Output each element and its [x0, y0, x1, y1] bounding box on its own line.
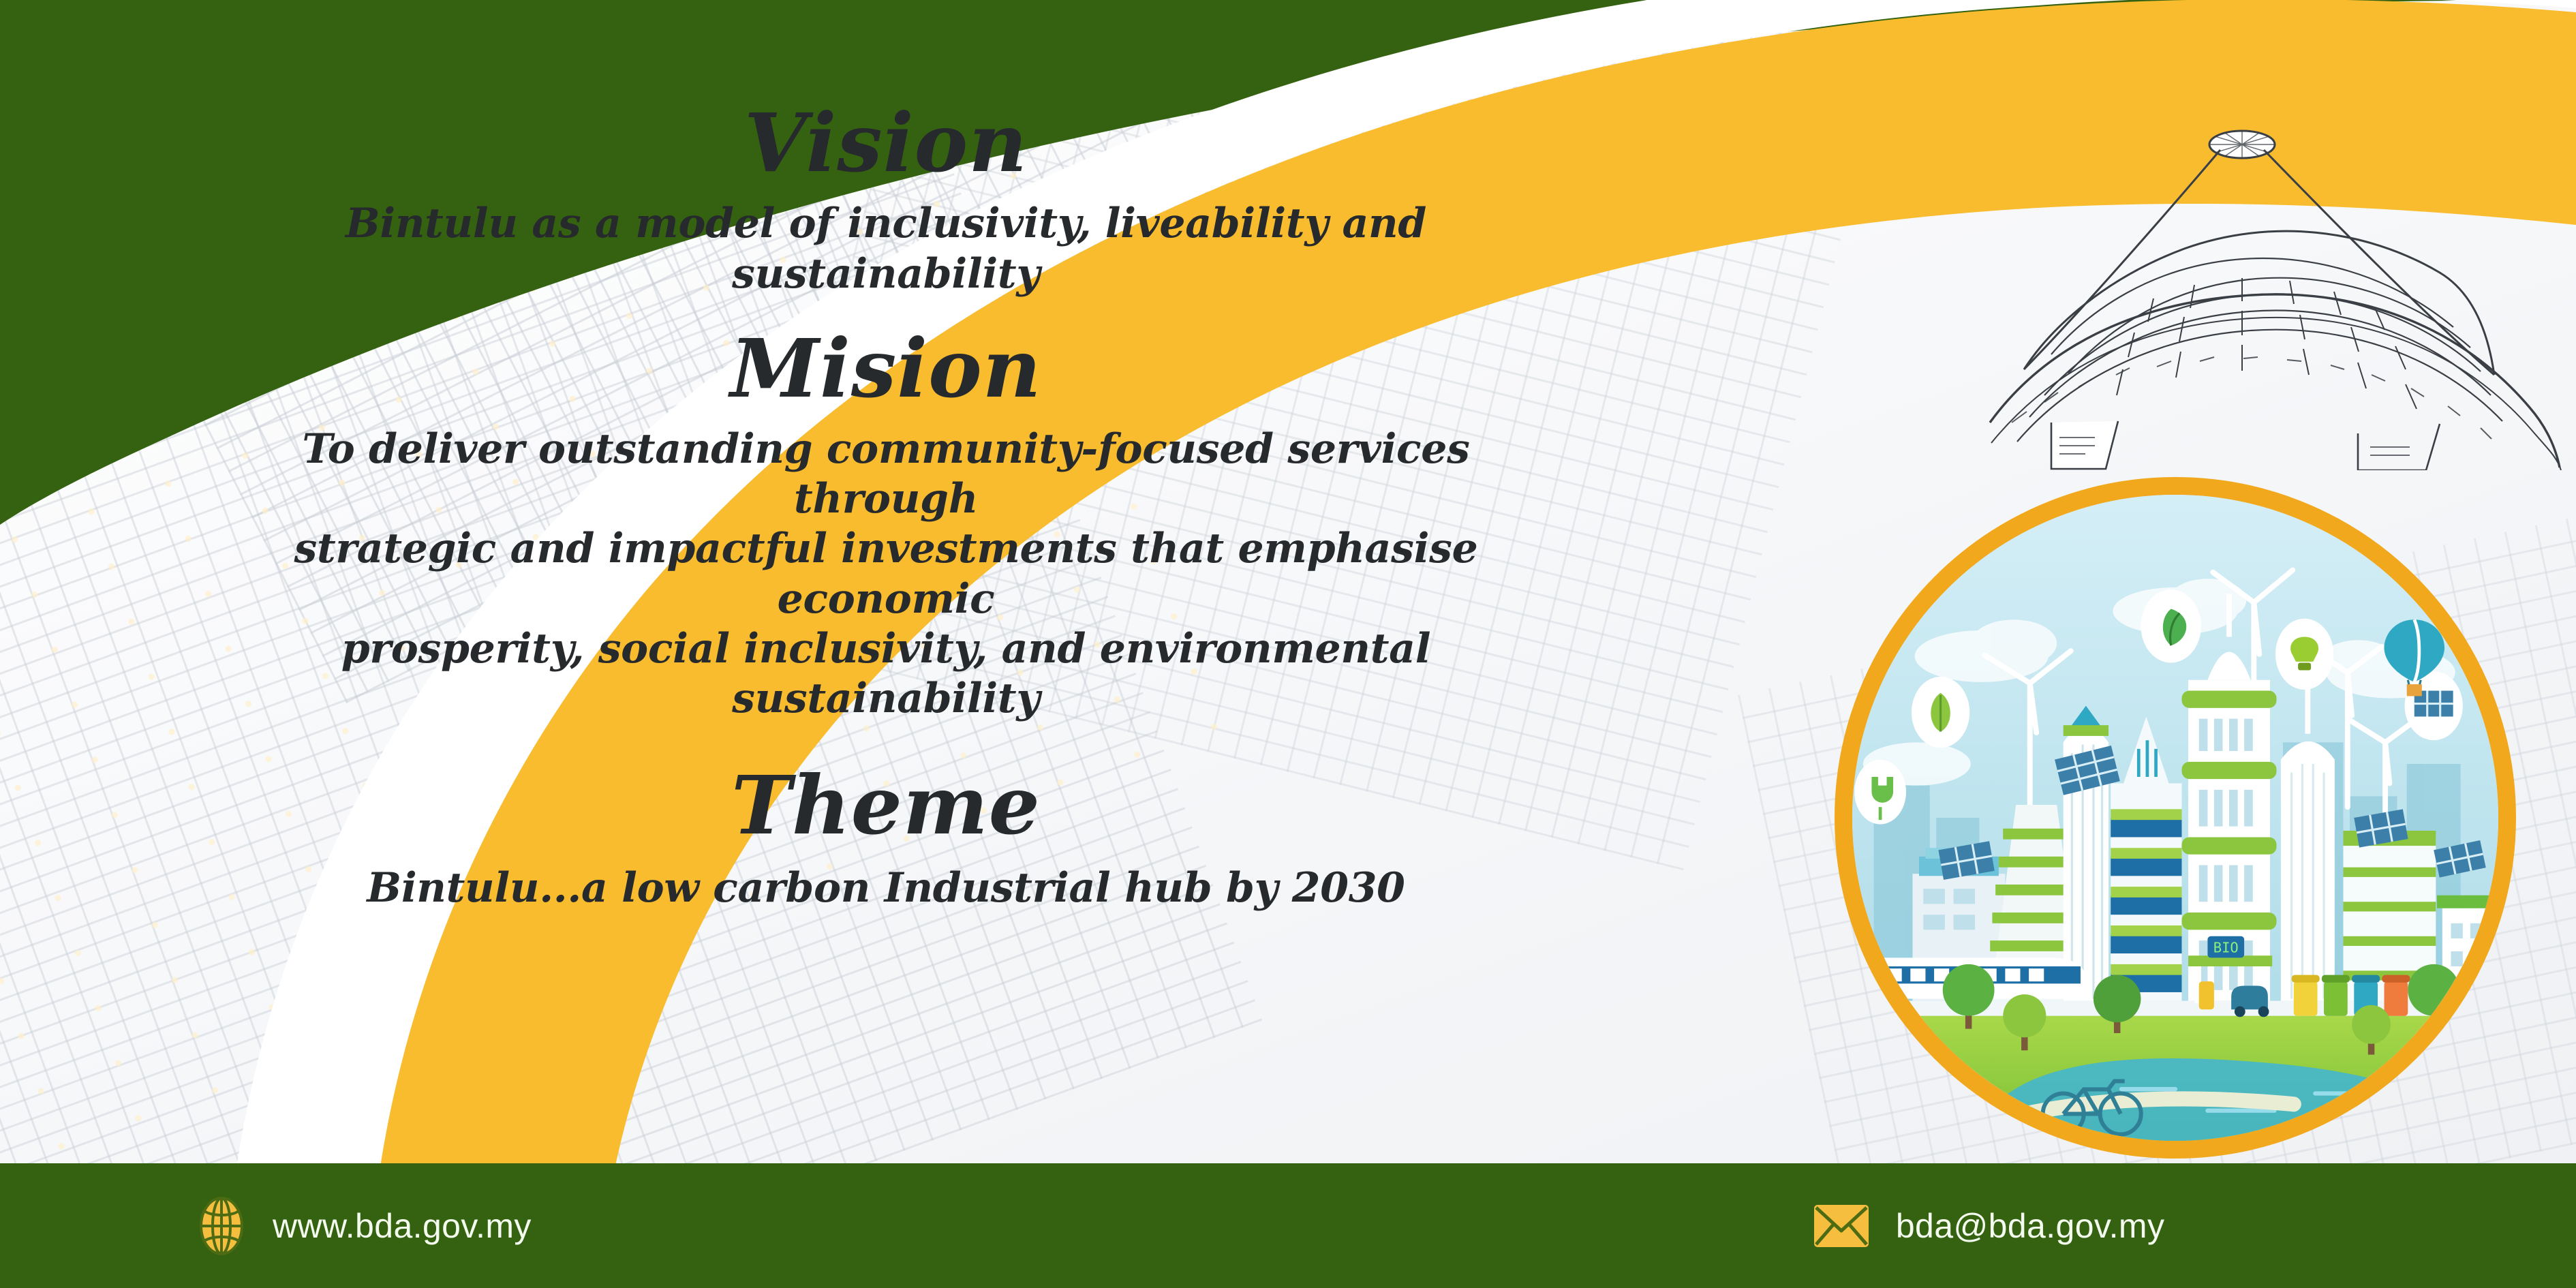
contact-footer: www.bda.gov.my bda@bda.gov.my: [0, 1163, 2576, 1288]
mission-line-1: To deliver outstanding community-focused…: [225, 425, 1547, 524]
section-vision: Vision Bintulu as a model of inclusivity…: [225, 102, 1547, 299]
section-theme: Theme Bintulu...a low carbon Industrial …: [225, 765, 1547, 913]
vision-body: Bintulu as a model of inclusivity, livea…: [225, 199, 1547, 298]
vision-line-1: Bintulu as a model of inclusivity, livea…: [225, 199, 1547, 298]
eco-city-illustration: BIO: [1835, 477, 2516, 1159]
theme-heading: Theme: [225, 765, 1547, 846]
footer-email[interactable]: bda@bda.gov.my: [1813, 1203, 2165, 1248]
envelope-icon: [1813, 1203, 1870, 1248]
conical-dome-building-linework-icon: [1949, 102, 2576, 470]
bda-vision-mission-banner: BIO: [0, 0, 2576, 1288]
theme-line-1: Bintulu...a low carbon Industrial hub by…: [225, 863, 1547, 913]
svg-text:BIO: BIO: [2213, 940, 2239, 956]
dome-building-graphic: [1949, 102, 2576, 470]
email-label: bda@bda.gov.my: [1896, 1206, 2165, 1246]
globe-icon: [196, 1196, 247, 1256]
mission-body: To deliver outstanding community-focused…: [225, 425, 1547, 724]
theme-body: Bintulu...a low carbon Industrial hub by…: [225, 863, 1547, 913]
mission-line-3: prosperity, social inclusivity, and envi…: [225, 624, 1547, 724]
mission-heading: Mision: [225, 328, 1547, 410]
vision-heading: Vision: [225, 102, 1547, 184]
section-mission: Mision To deliver outstanding community-…: [225, 328, 1547, 724]
website-label: www.bda.gov.my: [273, 1206, 532, 1246]
mission-line-2: strategic and impactful investments that…: [225, 524, 1547, 624]
footer-website[interactable]: www.bda.gov.my: [196, 1196, 532, 1256]
eco-city-illustration-svg: BIO: [1852, 495, 2498, 1141]
banner-content: Vision Bintulu as a model of inclusivity…: [225, 102, 1547, 913]
